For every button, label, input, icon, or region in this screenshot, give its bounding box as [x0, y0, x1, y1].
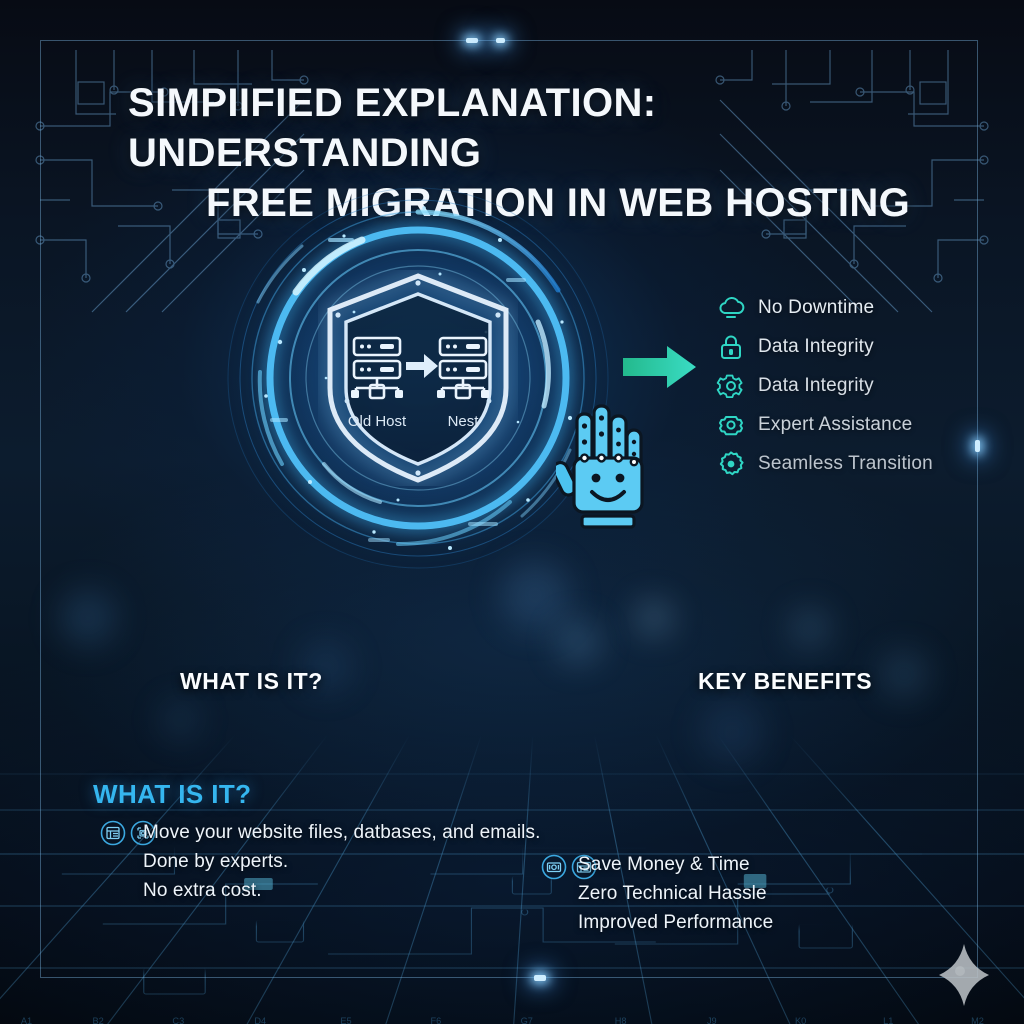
svg-text:H8: H8	[614, 1016, 626, 1024]
benefit-label: No Downtime	[758, 297, 874, 319]
what-is-it-line: No extra cost.	[143, 876, 573, 905]
svg-text:L1: L1	[883, 1016, 893, 1024]
benefit-row[interactable]: Expert Assistance	[716, 405, 996, 444]
title-line-1: SIMPIIFIED EXPLANATION: UNDERSTANDING	[128, 81, 656, 175]
benefit-row[interactable]: Data Integrity	[716, 327, 996, 366]
benefit-row[interactable]: Seamless Transition	[716, 444, 996, 483]
key-benefit-line: Improved Performance	[578, 908, 978, 937]
what-is-it-line: Done by experts.	[143, 847, 573, 876]
server-circle-icon	[100, 820, 126, 846]
key-benefit-line: Zero Technical Hassle	[578, 879, 978, 908]
infographic-poster: A1B2C3 D4E5F6 G7H8J9 K0L1M2	[0, 0, 1024, 1024]
green-arrow-right-icon	[623, 344, 697, 390]
benefit-label: Seamless Transition	[758, 453, 933, 475]
frame-node-top-b	[496, 38, 505, 43]
robot-hand-smiley-icon	[556, 400, 652, 536]
source-host-label: Old Host	[348, 413, 407, 430]
shield-icon: Old Host Nest	[318, 270, 518, 486]
frame-node-top-a	[466, 38, 478, 43]
gear-icon	[716, 410, 746, 440]
svg-text:F6: F6	[430, 1016, 441, 1024]
benefit-row[interactable]: Data Integrity	[716, 366, 996, 405]
section-header-key-benefits: KEY BENEFITS	[698, 668, 872, 695]
frame-node-bottom	[534, 975, 546, 981]
section-header-what-is-it: WHAT IS IT?	[180, 668, 323, 695]
gear-icon	[716, 371, 746, 401]
svg-text:E5: E5	[340, 1016, 351, 1024]
target-host-label: Nest	[448, 413, 480, 430]
svg-text:D4: D4	[254, 1016, 266, 1024]
benefit-label: Data Integrity	[758, 336, 874, 358]
svg-text:M2: M2	[971, 1016, 984, 1024]
benefits-list: No Downtime Data Integrity Data Integrit…	[716, 288, 996, 483]
svg-text:K0: K0	[795, 1016, 806, 1024]
benefit-label: Expert Assistance	[758, 414, 912, 436]
benefit-label: Data Integrity	[758, 375, 874, 397]
key-benefit-line: Save Money & Time	[578, 850, 978, 879]
svg-text:B2: B2	[92, 1016, 103, 1024]
svg-text:A1: A1	[20, 1016, 31, 1024]
cloud-icon	[716, 293, 746, 323]
what-is-it-lines: Move your website files, datbases, and e…	[143, 818, 573, 905]
svg-text:J9: J9	[707, 1016, 717, 1024]
lock-icon	[716, 332, 746, 362]
what-is-it-line: Move your website files, datbases, and e…	[143, 818, 573, 847]
sparkle-star-icon	[938, 944, 990, 1006]
key-benefits-lines: Save Money & Time Zero Technical Hassle …	[578, 850, 978, 937]
what-is-it-heading: WHAT IS IT?	[93, 779, 251, 810]
svg-text:C3: C3	[172, 1016, 184, 1024]
money-circle-icon	[541, 854, 567, 880]
cog-icon	[716, 449, 746, 479]
benefit-row[interactable]: No Downtime	[716, 288, 996, 327]
svg-text:G7: G7	[520, 1016, 532, 1024]
